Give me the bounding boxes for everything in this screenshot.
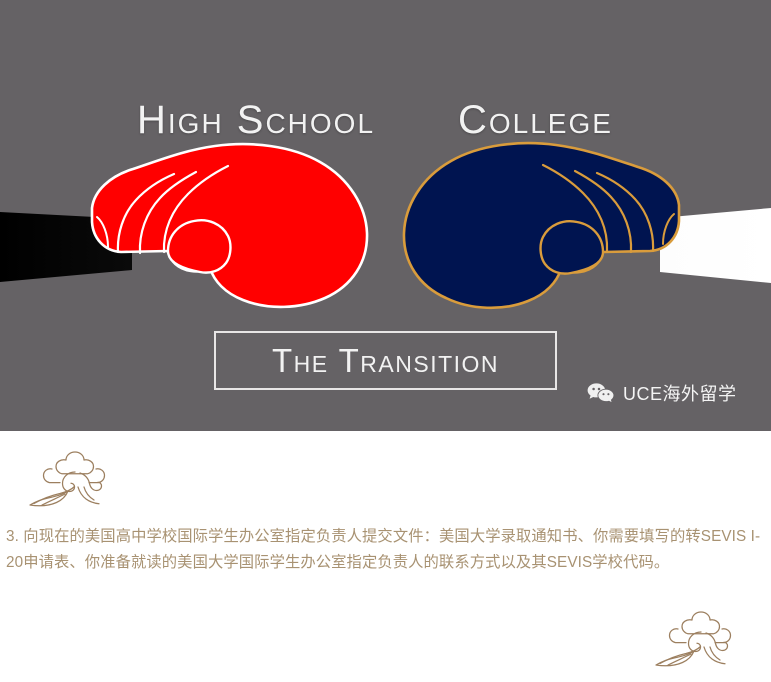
heading-high-school: High School (137, 100, 375, 140)
wechat-account-badge: UCE海外留学 (586, 382, 737, 406)
article-paragraph: 3. 向现在的美国高中学校国际学生办公室指定负责人提交文件：美国大学录取通知书、… (6, 524, 766, 576)
hero-banner: High School College The Transition UCE海外… (0, 0, 771, 431)
red-boxing-glove (92, 144, 367, 307)
cloud-ornament-top-left (22, 447, 128, 513)
wechat-account-name: UCE海外留学 (623, 385, 737, 403)
transition-title-label: The Transition (272, 344, 499, 377)
wechat-icon (586, 382, 616, 406)
article-body: 3. 向现在的美国高中学校国际学生办公室指定负责人提交文件：美国大学录取通知书、… (0, 431, 771, 682)
transition-title-box: The Transition (214, 331, 557, 390)
navy-boxing-glove (404, 143, 679, 308)
cloud-ornament-bottom-right (648, 607, 754, 673)
heading-college: College (458, 100, 613, 140)
